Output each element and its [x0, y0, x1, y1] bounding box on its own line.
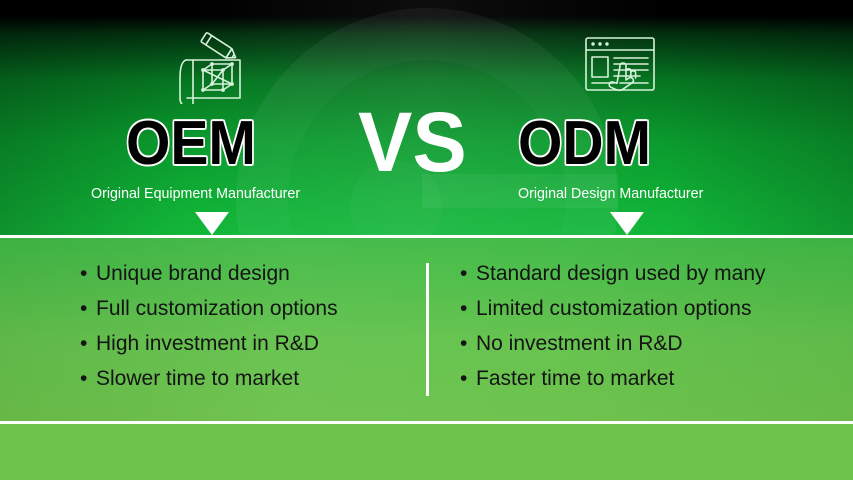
list-item: • Full customization options: [80, 291, 420, 326]
bullet-icon: •: [80, 291, 87, 326]
webpage-hand-cursor-icon: [580, 32, 668, 104]
oem-feature-column: • Unique brand design • Full customizati…: [80, 238, 420, 421]
versus-label: VS: [358, 100, 467, 184]
oem-pointer-triangle-icon: [195, 212, 229, 235]
list-item-label: Standard design used by many: [476, 262, 766, 285]
odm-feature-list: • Standard design used by many • Limited…: [460, 238, 840, 396]
list-item-label: Slower time to market: [96, 367, 299, 390]
list-item: • Standard design used by many: [460, 256, 840, 291]
list-item: • Slower time to market: [80, 361, 420, 396]
oem-feature-list: • Unique brand design • Full customizati…: [80, 238, 420, 396]
bullet-icon: •: [80, 361, 87, 396]
odm-title: ODM: [518, 113, 651, 175]
bullet-icon: •: [460, 326, 467, 361]
list-item: • Faster time to market: [460, 361, 840, 396]
odm-pointer-triangle-icon: [610, 212, 644, 235]
oem-subtitle: Original Equipment Manufacturer: [91, 185, 300, 203]
infographic-canvas: OEM VS ODM Original Equipment Manufactur…: [0, 0, 853, 480]
bullet-icon: •: [460, 291, 467, 326]
list-item-label: Full customization options: [96, 297, 338, 320]
bullet-icon: •: [460, 361, 467, 396]
list-item-label: Unique brand design: [96, 262, 290, 285]
bullet-icon: •: [80, 256, 87, 291]
bullet-icon: •: [460, 256, 467, 291]
oem-title: OEM: [126, 113, 256, 175]
list-item-label: Limited customization options: [476, 297, 751, 320]
odm-subtitle: Original Design Manufacturer: [518, 185, 703, 203]
blueprint-pencil-icon: [172, 32, 252, 104]
list-item: • Limited customization options: [460, 291, 840, 326]
footer-band: [0, 424, 853, 480]
odm-feature-column: • Standard design used by many • Limited…: [460, 238, 840, 421]
list-item: • High investment in R&D: [80, 326, 420, 361]
comparison-columns: • Unique brand design • Full customizati…: [0, 238, 853, 421]
list-item: • Unique brand design: [80, 256, 420, 291]
list-item-label: Faster time to market: [476, 367, 674, 390]
list-item-label: No investment in R&D: [476, 332, 683, 355]
bullet-icon: •: [80, 326, 87, 361]
list-item-label: High investment in R&D: [96, 332, 319, 355]
list-item: • No investment in R&D: [460, 326, 840, 361]
